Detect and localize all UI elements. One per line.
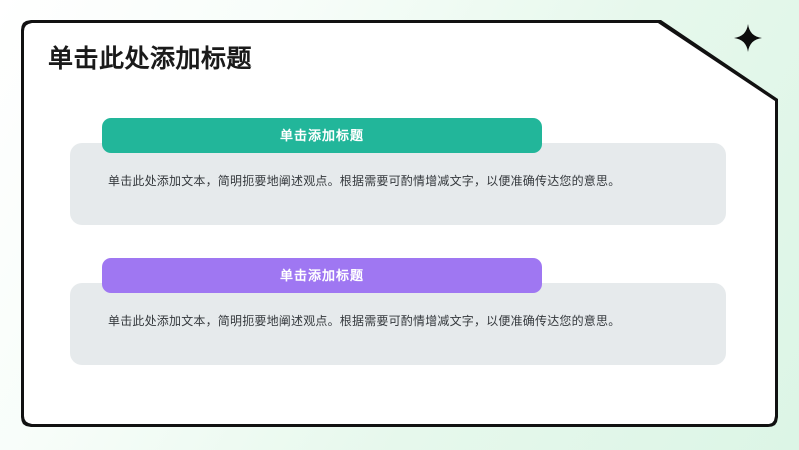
block-header-1[interactable]: 单击添加标题 [102,118,542,153]
block-body-text-2: 单击此处添加文本，简明扼要地阐述观点。根据需要可酌情增减文字，以便准确传达您的意… [108,310,696,332]
block-header-2[interactable]: 单击添加标题 [102,258,542,293]
block-header-label-2: 单击添加标题 [280,269,364,282]
slide-canvas: 单击此处添加标题 单击添加标题 单击此处添加文本，简明扼要地阐述观点。根据需要可… [0,0,799,450]
block-body-text-1: 单击此处添加文本，简明扼要地阐述观点。根据需要可酌情增减文字，以便准确传达您的意… [108,170,696,192]
sparkle-icon [733,23,763,53]
page-title: 单击此处添加标题 [48,42,252,76]
block-header-label-1: 单击添加标题 [280,129,364,142]
